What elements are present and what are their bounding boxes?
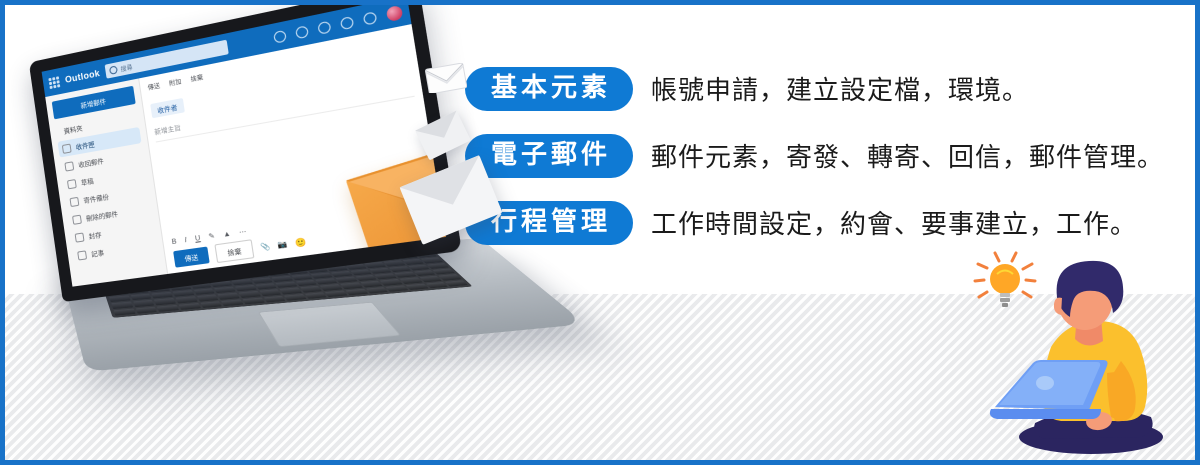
ribbon-attach[interactable]: 附加 bbox=[168, 76, 182, 88]
bold-icon[interactable]: B bbox=[171, 238, 177, 246]
promo-banner: Outlook 搜尋 bbox=[0, 0, 1200, 465]
note-icon bbox=[77, 250, 87, 260]
pencil-icon bbox=[67, 179, 77, 189]
person-with-laptop-illustration bbox=[973, 251, 1183, 456]
ribbon-discard[interactable]: 捨棄 bbox=[190, 72, 204, 84]
more-format-icon[interactable]: ⋯ bbox=[238, 227, 247, 236]
laptop-trackpad bbox=[258, 302, 401, 347]
send-button[interactable]: 傳送 bbox=[173, 247, 210, 268]
discard-button[interactable]: 捨棄 bbox=[214, 239, 254, 263]
sidebar-item-label: 刪除的郵件 bbox=[85, 208, 118, 223]
archive-icon bbox=[75, 232, 85, 242]
attach-icon[interactable]: 📎 bbox=[260, 242, 271, 252]
emoji-icon[interactable]: 🙂 bbox=[294, 237, 307, 248]
feature-row: 電子郵件 郵件元素，寄發、轉寄、回信，郵件管理。 bbox=[465, 134, 1165, 178]
sidebar-item-label: 收回郵件 bbox=[78, 155, 105, 169]
feature-list: 基本元素 帳號申請，建立設定檔，環境。 電子郵件 郵件元素，寄發、轉寄、回信，郵… bbox=[465, 67, 1165, 268]
image-icon[interactable]: 📷 bbox=[277, 240, 288, 250]
inbox-icon bbox=[62, 143, 72, 153]
ribbon-send[interactable]: 傳送 bbox=[147, 81, 160, 92]
feature-pill-basic[interactable]: 基本元素 bbox=[465, 67, 633, 111]
feature-pill-email[interactable]: 電子郵件 bbox=[465, 134, 633, 178]
italic-icon[interactable]: I bbox=[184, 236, 187, 243]
avatar[interactable] bbox=[386, 4, 404, 21]
highlight-icon[interactable]: ✎ bbox=[208, 232, 215, 241]
sidebar-item-label: 草稿 bbox=[80, 175, 94, 187]
feature-description-basic: 帳號申請，建立設定檔，環境。 bbox=[651, 70, 1029, 107]
search-icon bbox=[109, 65, 118, 75]
sidebar-item-label: 記事 bbox=[91, 247, 105, 259]
clock-icon bbox=[64, 161, 74, 171]
clock-icon[interactable] bbox=[273, 29, 287, 43]
share-icon[interactable] bbox=[363, 11, 378, 25]
sidebar-item-label: 收件匣 bbox=[75, 138, 95, 151]
feature-row: 基本元素 帳號申請，建立設定檔，環境。 bbox=[465, 67, 1165, 111]
search-placeholder: 搜尋 bbox=[120, 62, 133, 73]
app-launcher-icon[interactable] bbox=[48, 76, 60, 89]
underline-icon[interactable]: U bbox=[194, 234, 200, 242]
subject-field[interactable]: 新增主旨 bbox=[154, 79, 415, 142]
feature-row: 行程管理 工作時間設定，約會、要事建立，工作。 bbox=[465, 201, 1165, 245]
refresh-icon[interactable] bbox=[295, 25, 309, 39]
feature-description-schedule: 工作時間設定，約會、要事建立，工作。 bbox=[651, 204, 1137, 241]
feature-description-email: 郵件元素，寄發、轉寄、回信，郵件管理。 bbox=[651, 137, 1164, 174]
outlook-brand-label: Outlook bbox=[64, 68, 100, 85]
to-field[interactable]: 收件者 bbox=[150, 98, 184, 118]
font-color-icon[interactable]: ▲ bbox=[223, 230, 231, 238]
trash-icon bbox=[72, 214, 82, 224]
gear-icon[interactable] bbox=[317, 20, 331, 34]
send-icon bbox=[69, 196, 79, 206]
envelope-icon bbox=[425, 63, 467, 93]
sidebar-item-label: 封存 bbox=[88, 229, 102, 241]
sidebar-item-label: 寄件備份 bbox=[83, 191, 110, 205]
help-icon[interactable] bbox=[340, 15, 354, 29]
lightbulb-icon bbox=[975, 253, 1035, 307]
